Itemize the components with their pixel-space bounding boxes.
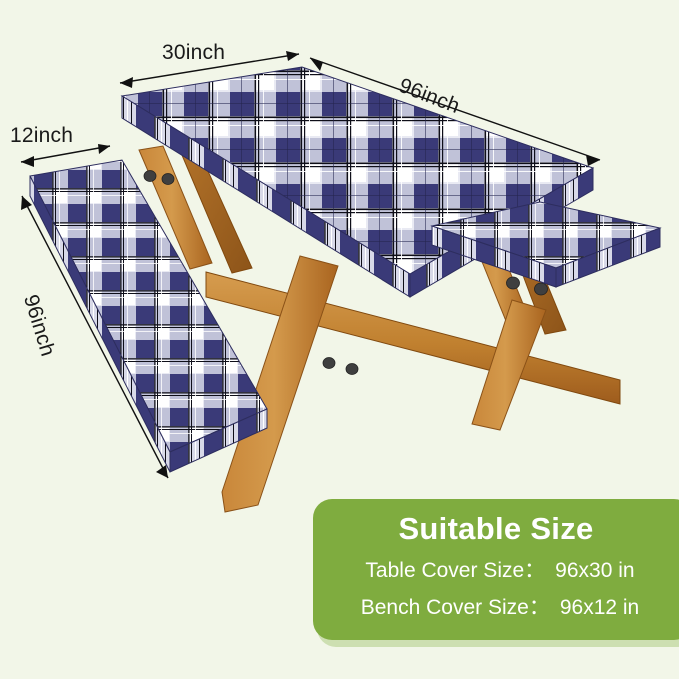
bench-cover-size-value: 96x12 in	[560, 596, 639, 619]
bolt	[144, 171, 156, 182]
bolt	[323, 358, 335, 369]
suitable-size-card: Suitable Size Table Cover Size：96x30 in …	[313, 499, 679, 640]
size-card-title: Suitable Size	[313, 511, 679, 547]
bolt	[535, 283, 548, 295]
product-image-canvas: 30inch 96inch 12inch 96inch Suitable Siz…	[0, 0, 679, 679]
table-cover-size-label: Table Cover Size：	[365, 559, 545, 582]
table-cover-size-value: 96x30 in	[555, 559, 634, 582]
dimension-label-table-width: 30inch	[162, 41, 225, 65]
bench-cover-size-label: Bench Cover Size：	[361, 596, 550, 619]
dimension-label-bench-width: 12inch	[10, 124, 73, 148]
bench-cover-size-row: Bench Cover Size：96x12 in	[313, 591, 679, 621]
bolt	[507, 277, 520, 289]
bolt	[162, 174, 174, 185]
table-cover-size-row: Table Cover Size：96x30 in	[313, 554, 679, 584]
bolt	[346, 364, 358, 375]
